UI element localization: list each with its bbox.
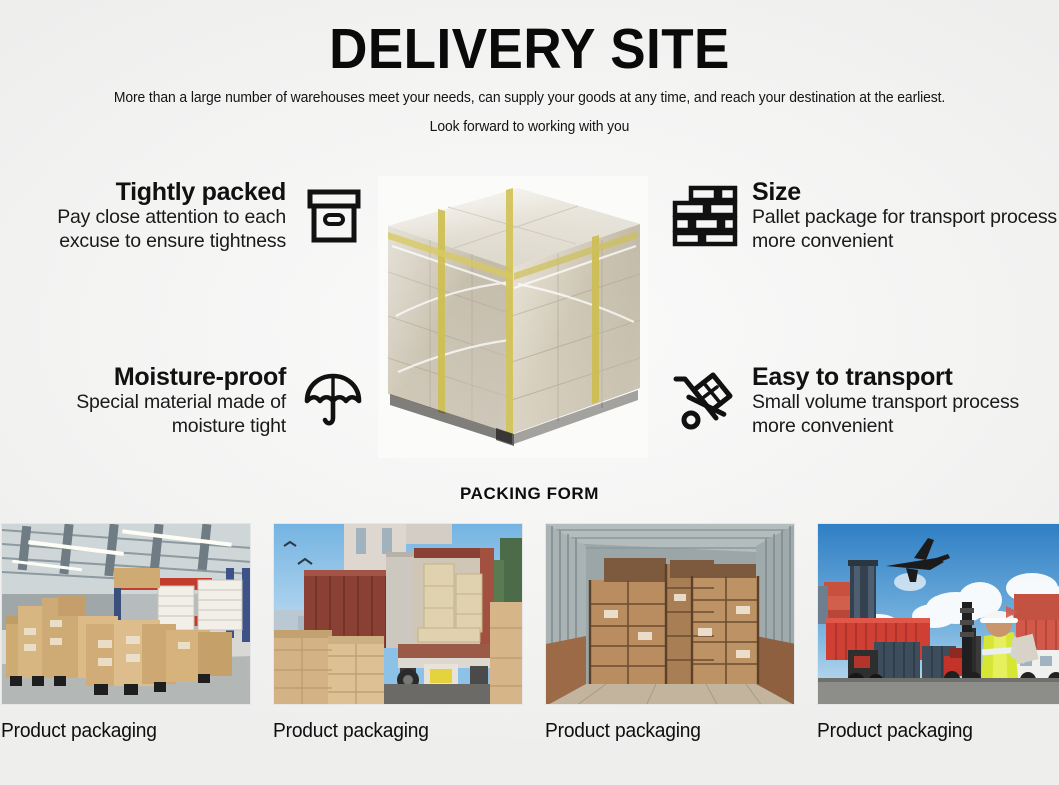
delivery-site-banner: DELIVERY SITE More than a large number o… <box>0 0 1059 785</box>
feature-text-block: Easy to transport Small volume transport… <box>752 363 1059 439</box>
gallery-item[interactable]: Product packaging <box>817 523 1059 763</box>
feature-description: Small volume transport process more conv… <box>752 391 1059 439</box>
feature-description: Pallet package for transport process mor… <box>752 206 1059 254</box>
thumbnail-warehouse-pallets[interactable] <box>1 523 251 705</box>
feature-description: Pay close attention to each excuse to en… <box>0 206 286 254</box>
feature-heading: Moisture-proof <box>114 363 286 391</box>
wrapped-pallet-image <box>378 176 648 458</box>
feature-tightly-packed: Tightly packed Pay close attention to ea… <box>0 178 366 254</box>
thumbnail-container-interior[interactable] <box>545 523 795 705</box>
feature-description: Special material made of moisture tight <box>0 391 286 439</box>
subtitle-line-1: More than a large number of warehouses m… <box>21 90 1038 106</box>
gallery-item[interactable]: Product packaging <box>1 523 251 763</box>
umbrella-icon <box>302 370 364 432</box>
feature-text-block: Tightly packed Pay close attention to ea… <box>0 178 286 254</box>
gallery-caption: Product packaging <box>1 720 241 743</box>
gallery-item[interactable]: Product packaging <box>545 523 795 763</box>
subtitle-line-2: Look forward to working with you <box>21 119 1038 135</box>
gallery-caption: Product packaging <box>817 720 1057 743</box>
feature-moisture-proof: Moisture-proof Special material made of … <box>0 363 366 439</box>
gallery-item[interactable]: Product packaging <box>273 523 523 763</box>
archive-box-icon <box>302 184 366 248</box>
thumbnail-container-loading[interactable] <box>273 523 523 705</box>
gallery-caption: Product packaging <box>545 720 785 743</box>
gallery-caption: Product packaging <box>273 720 513 743</box>
packing-form-gallery: Product packaging <box>0 523 1059 763</box>
feature-heading: Size <box>752 178 801 206</box>
brick-wall-icon <box>672 185 738 247</box>
thumbnail-logistics-yard[interactable] <box>817 523 1059 705</box>
feature-size: Size Pallet package for transport proces… <box>672 178 1059 254</box>
packing-form-label: PACKING FORM <box>0 484 1059 504</box>
feature-text-block: Size Pallet package for transport proces… <box>752 178 1059 254</box>
hand-truck-icon <box>672 370 738 432</box>
feature-heading: Easy to transport <box>752 363 953 391</box>
feature-easy-to-transport: Easy to transport Small volume transport… <box>672 363 1059 439</box>
feature-text-block: Moisture-proof Special material made of … <box>0 363 286 439</box>
feature-heading: Tightly packed <box>116 178 286 206</box>
page-title: DELIVERY SITE <box>37 16 1022 82</box>
